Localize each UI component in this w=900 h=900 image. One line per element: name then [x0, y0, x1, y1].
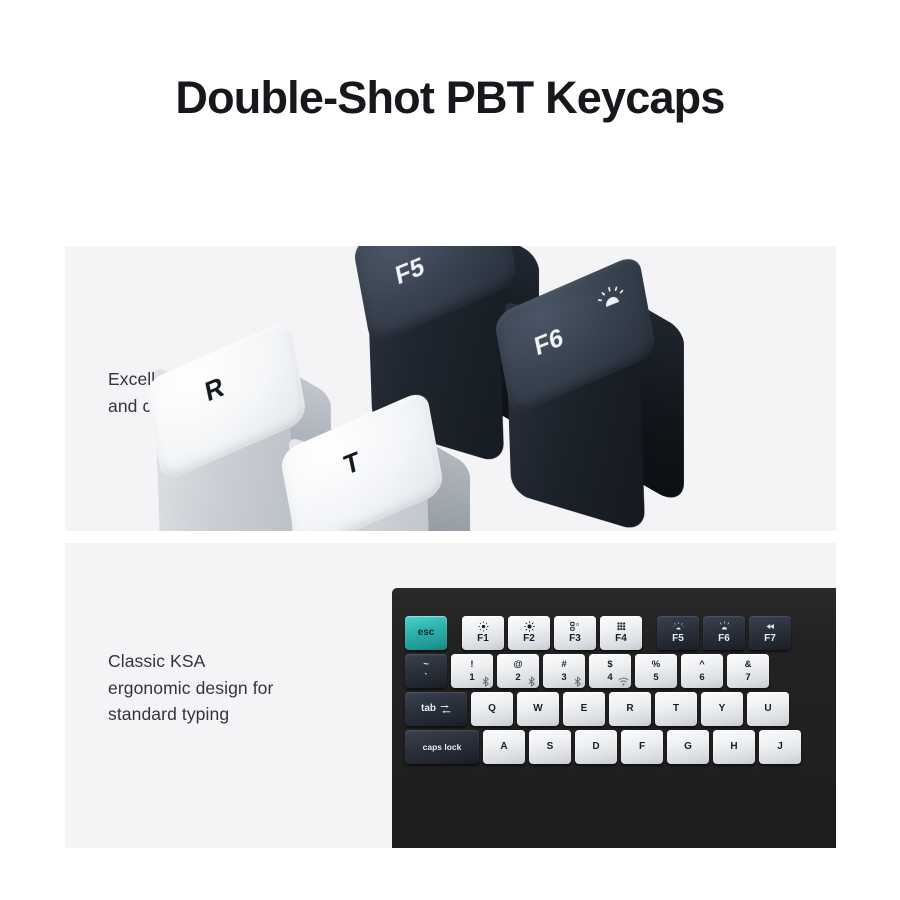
key-esc[interactable]: esc	[405, 616, 447, 650]
key--1[interactable]: !1	[451, 654, 493, 688]
mission-control-icon: 0	[570, 621, 581, 632]
bluetooth-icon	[526, 674, 534, 682]
bluetooth-icon	[572, 674, 580, 682]
key-legend: F1	[477, 634, 489, 645]
key-r[interactable]: R	[609, 692, 651, 726]
key-legend-upper: ^	[699, 660, 705, 670]
tab-arrows-icon	[440, 704, 451, 715]
key-legend-upper: ~	[423, 660, 429, 670]
tab-arrows-icon	[440, 704, 451, 715]
key-legend: T	[673, 704, 679, 715]
key-legend-group: tab	[421, 704, 451, 715]
feature-caption-ergonomics: Classic KSA ergonomic design for standar…	[108, 648, 273, 728]
key-legend-lower: 6	[699, 673, 704, 683]
key-g[interactable]: G	[667, 730, 709, 764]
keyboard-row-qwerty-row: tabQWERTYU	[405, 692, 836, 726]
key-legend-lower: 2	[515, 673, 520, 683]
brightness-down-icon	[478, 621, 489, 632]
key-f3[interactable]: 0F3	[554, 616, 596, 650]
key-f6[interactable]: F6	[703, 616, 745, 650]
key-legend: F7	[764, 634, 776, 645]
key-legend: G	[684, 742, 692, 753]
feature-panel-ergonomics: Classic KSA ergonomic design for standar…	[65, 543, 836, 848]
key-legend: E	[581, 704, 588, 715]
keycap-f6: F6	[490, 256, 705, 531]
key-legend: F6	[718, 634, 730, 645]
key-legend-lower: 4	[607, 673, 612, 683]
brightness-up-icon	[524, 621, 535, 632]
key--3[interactable]: #3	[543, 654, 585, 688]
key--[interactable]: ~`	[405, 654, 447, 688]
key--2[interactable]: @2	[497, 654, 539, 688]
key-legend: F4	[615, 634, 627, 645]
key-legend: F3	[569, 634, 581, 645]
rewind-icon	[765, 621, 776, 632]
key-f5[interactable]: F5	[657, 616, 699, 650]
key-legend-upper: #	[561, 660, 566, 670]
key-legend: Q	[488, 704, 496, 715]
key-legend: A	[500, 742, 507, 753]
key-legend: F2	[523, 634, 535, 645]
svg-text:0: 0	[576, 622, 579, 628]
key-legend: U	[764, 704, 771, 715]
rewind-icon	[765, 621, 776, 632]
key--5[interactable]: %5	[635, 654, 677, 688]
backlight-up-icon	[719, 621, 730, 632]
key-legend: F5	[672, 634, 684, 645]
key-legend: D	[592, 742, 599, 753]
key-q[interactable]: Q	[471, 692, 513, 726]
key-legend: caps lock	[423, 743, 462, 752]
key-legend: F	[639, 742, 645, 753]
key-legend-lower: 3	[561, 673, 566, 683]
wifi-icon	[618, 674, 626, 682]
key-legend: W	[533, 704, 542, 715]
key-legend-upper: @	[513, 660, 522, 670]
key--7[interactable]: &7	[727, 654, 769, 688]
keyboard-row-function-row: escF1F20F3F4F5F6F7	[405, 616, 836, 650]
key-w[interactable]: W	[517, 692, 559, 726]
keyboard-row-home-row: caps lockASDFGHJ	[405, 730, 836, 764]
key-legend: esc	[418, 628, 435, 639]
bluetooth-icon	[480, 674, 488, 682]
key-legend-lower: `	[424, 673, 427, 683]
key-legend: Y	[719, 704, 726, 715]
key-u[interactable]: U	[747, 692, 789, 726]
keyboard-image: escF1F20F3F4F5F6F7~`!1@2#3$4%5^6&7tabQWE…	[392, 588, 836, 848]
backlight-down-icon	[673, 621, 684, 632]
key-legend-lower: 1	[469, 673, 474, 683]
key-legend-upper: &	[745, 660, 752, 670]
key--4[interactable]: $4	[589, 654, 631, 688]
bluetooth-icon	[572, 676, 583, 687]
key-f7[interactable]: F7	[749, 616, 791, 650]
keycap-group: F5	[65, 246, 836, 531]
key-tab[interactable]: tab	[405, 692, 467, 726]
launchpad-icon	[616, 621, 627, 632]
key-t[interactable]: T	[655, 692, 697, 726]
key-y[interactable]: Y	[701, 692, 743, 726]
wifi-icon	[618, 676, 629, 687]
key-caps-lock[interactable]: caps lock	[405, 730, 479, 764]
key-f4[interactable]: F4	[600, 616, 642, 650]
bluetooth-icon	[480, 676, 491, 687]
product-feature-page: Double-Shot PBT Keycaps Excellent durabi…	[0, 0, 900, 900]
launchpad-icon	[616, 621, 627, 632]
key-legend-lower: 5	[653, 673, 658, 683]
keycap-t: T	[280, 396, 495, 531]
key-legend: S	[547, 742, 554, 753]
bluetooth-icon	[526, 676, 537, 687]
key-legend-upper: !	[470, 660, 473, 670]
mission-control-icon: 0	[570, 621, 581, 632]
backlight-up-icon	[719, 621, 730, 632]
keyboard-row-number-row: ~`!1@2#3$4%5^6&7	[405, 654, 836, 688]
key-legend: J	[777, 742, 783, 753]
key-s[interactable]: S	[529, 730, 571, 764]
key-legend-lower: 7	[745, 673, 750, 683]
key-f2[interactable]: F2	[508, 616, 550, 650]
key-legend: R	[626, 704, 633, 715]
key-legend: H	[730, 742, 737, 753]
key-j[interactable]: J	[759, 730, 801, 764]
key--6[interactable]: ^6	[681, 654, 723, 688]
brightness-up-icon	[524, 621, 535, 632]
key-f1[interactable]: F1	[462, 616, 504, 650]
key-e[interactable]: E	[563, 692, 605, 726]
key-f[interactable]: F	[621, 730, 663, 764]
key-a[interactable]: A	[483, 730, 525, 764]
key-legend-upper: $	[607, 660, 612, 670]
brightness-down-icon	[478, 621, 489, 632]
key-legend: tab	[421, 704, 436, 715]
backlight-down-icon	[673, 621, 684, 632]
key-d[interactable]: D	[575, 730, 617, 764]
key-legend-upper: %	[652, 660, 660, 670]
key-h[interactable]: H	[713, 730, 755, 764]
page-title: Double-Shot PBT Keycaps	[0, 72, 900, 124]
keyboard-frame: escF1F20F3F4F5F6F7~`!1@2#3$4%5^6&7tabQWE…	[392, 588, 836, 848]
feature-panel-durability: Excellent durability and compatibility	[65, 246, 836, 531]
